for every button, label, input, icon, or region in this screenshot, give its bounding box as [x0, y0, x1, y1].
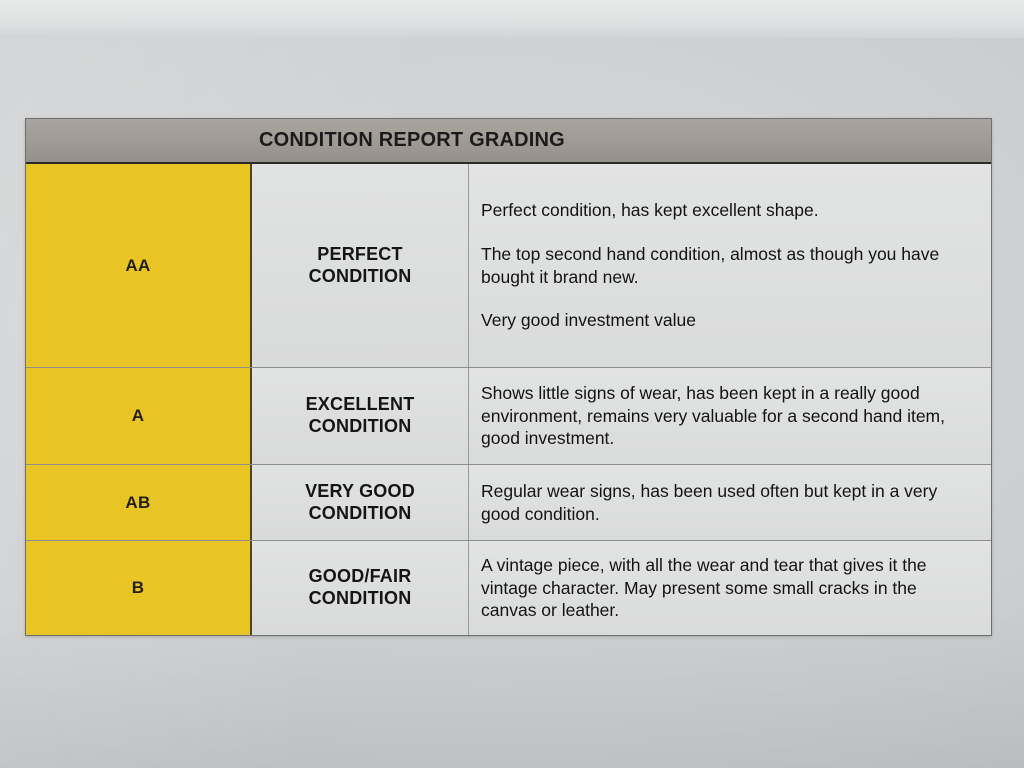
table-row: AB VERY GOOD CONDITION Regular wear sign… — [26, 465, 991, 541]
condition-label: GOOD/FAIR CONDITION — [309, 566, 412, 610]
condition-label-line-1: GOOD/FAIR — [309, 566, 412, 588]
grade-label: AA — [125, 256, 150, 276]
condition-report-grading-table: CONDITION REPORT GRADING AA PERFECT COND… — [25, 118, 992, 636]
condition-cell-a: EXCELLENT CONDITION — [252, 368, 469, 464]
description-paragraph: The top second hand condition, almost as… — [481, 243, 977, 289]
paper-top-edge — [0, 0, 1024, 38]
description-paragraph: A vintage piece, with all the wear and t… — [481, 554, 977, 622]
table-row: B GOOD/FAIR CONDITION A vintage piece, w… — [26, 541, 991, 635]
table-body: AA PERFECT CONDITION Perfect condition, … — [26, 164, 991, 635]
description-cell-ab: Regular wear signs, has been used often … — [469, 465, 991, 540]
description-cell-b: A vintage piece, with all the wear and t… — [469, 541, 991, 635]
description-paragraph: Regular wear signs, has been used often … — [481, 480, 977, 526]
condition-cell-ab: VERY GOOD CONDITION — [252, 465, 469, 540]
description-cell-a: Shows little signs of wear, has been kep… — [469, 368, 991, 464]
condition-label-line-2: CONDITION — [309, 266, 412, 288]
description-paragraph: Perfect condition, has kept excellent sh… — [481, 199, 977, 222]
condition-label-line-1: EXCELLENT — [306, 394, 415, 416]
grade-label: A — [132, 406, 145, 426]
description-paragraph: Very good investment value — [481, 309, 977, 332]
grade-cell-a: A — [26, 368, 252, 464]
grade-cell-ab: AB — [26, 465, 252, 540]
grade-cell-aa: AA — [26, 164, 252, 367]
description-paragraph: Shows little signs of wear, has been kep… — [481, 382, 977, 450]
table-row: A EXCELLENT CONDITION Shows little signs… — [26, 368, 991, 465]
grade-label: B — [132, 578, 145, 598]
grade-cell-b: B — [26, 541, 252, 635]
condition-cell-b: GOOD/FAIR CONDITION — [252, 541, 469, 635]
condition-label: PERFECT CONDITION — [309, 244, 412, 288]
condition-label-line-1: VERY GOOD — [305, 481, 415, 503]
description-cell-aa: Perfect condition, has kept excellent sh… — [469, 164, 991, 367]
condition-label-line-2: CONDITION — [306, 416, 415, 438]
table-header: CONDITION REPORT GRADING — [26, 119, 991, 164]
condition-cell-aa: PERFECT CONDITION — [252, 164, 469, 367]
condition-label: VERY GOOD CONDITION — [305, 481, 415, 525]
condition-label: EXCELLENT CONDITION — [306, 394, 415, 438]
table-row: AA PERFECT CONDITION Perfect condition, … — [26, 164, 991, 368]
table-title: CONDITION REPORT GRADING — [259, 129, 565, 152]
condition-label-line-2: CONDITION — [305, 503, 415, 525]
condition-label-line-1: PERFECT — [309, 244, 412, 266]
grade-label: AB — [125, 493, 150, 513]
condition-label-line-2: CONDITION — [309, 588, 412, 610]
